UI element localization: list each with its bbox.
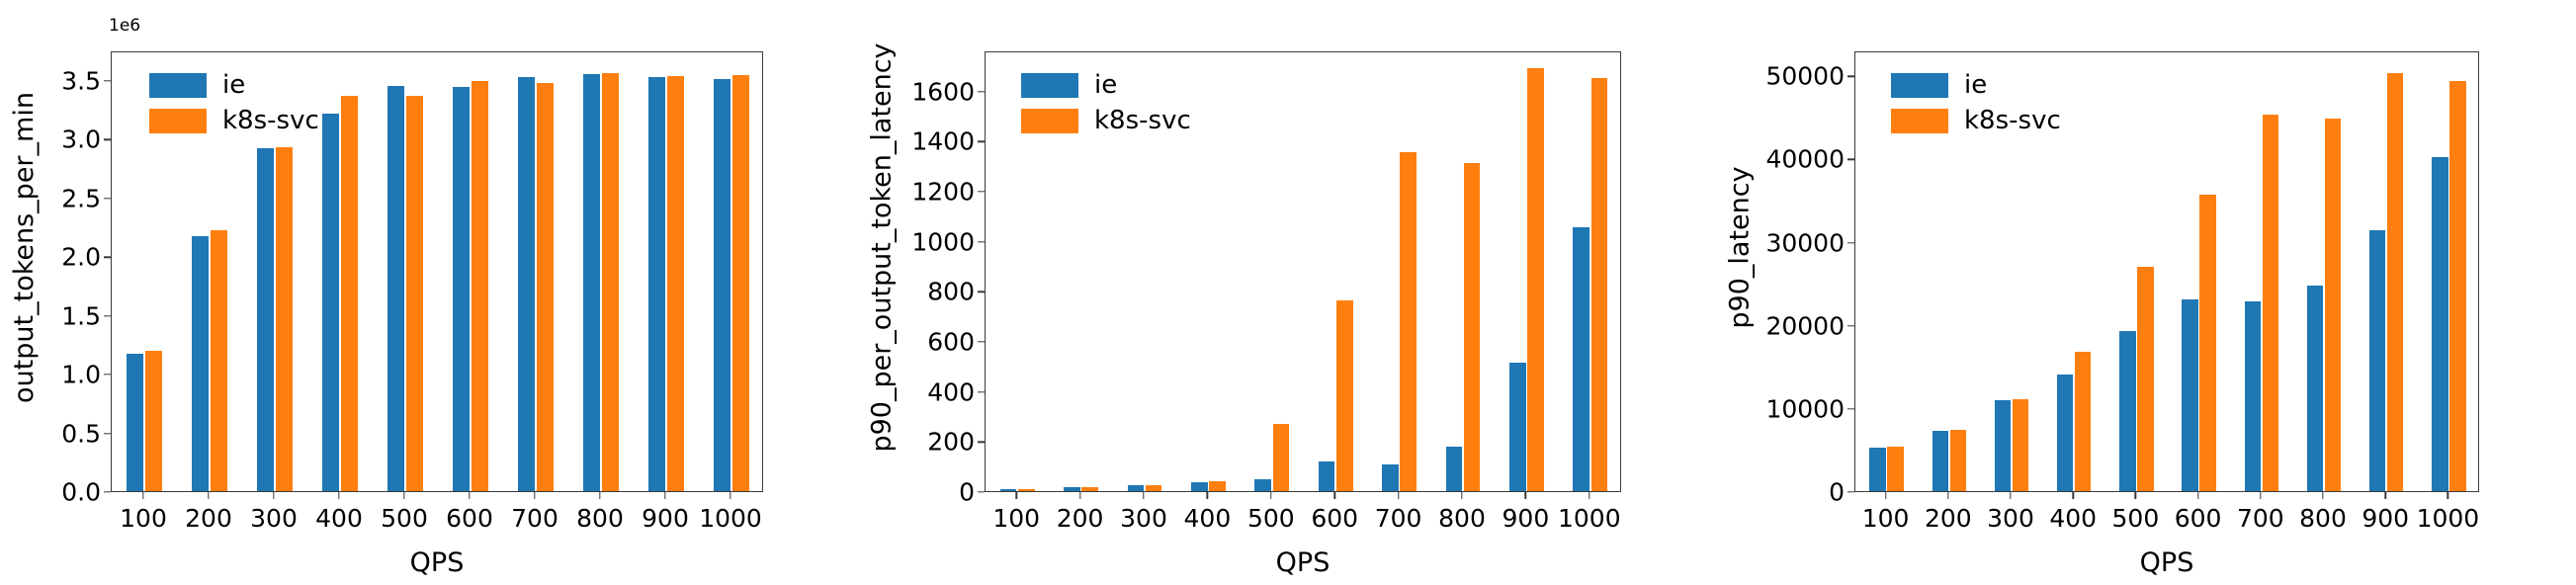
bar-ie-600: [2182, 299, 2197, 491]
bar-k8s-svc-900: [1527, 68, 1544, 491]
bar-k8s-svc-1000: [1591, 78, 1608, 491]
bar-ie-200: [1932, 431, 1948, 491]
x-tick-mark-2-200: [1079, 492, 1080, 499]
x-tick-mark-1-400: [338, 492, 339, 499]
x-tick-label-1-700: 700: [511, 504, 558, 533]
y-tick-label-3-3: 30000: [1765, 228, 1845, 257]
y-tick-mark-1-0: [104, 491, 111, 492]
y-tick-mark-3-4: [1847, 159, 1854, 160]
y-tick-label-3-2: 20000: [1765, 311, 1845, 340]
y-tick-mark-3-5: [1847, 76, 1854, 77]
x-tick-label-1-200: 200: [185, 504, 232, 533]
x-tick-label-3-100: 100: [1862, 504, 1910, 533]
legend-label: ie: [222, 72, 245, 98]
bar-k8s-svc-200: [1950, 430, 1966, 491]
bar-k8s-svc-500: [1273, 424, 1290, 491]
bar-k8s-svc-400: [1209, 481, 1226, 491]
legend-label: k8s-svc: [1964, 108, 2061, 133]
x-tick-label-3-800: 800: [2299, 504, 2347, 533]
y-tick-label-1-4: 2.0: [61, 243, 101, 272]
bar-ie-1000: [2432, 157, 2447, 491]
bar-ie-400: [322, 114, 339, 491]
bar-ie-800: [1446, 447, 1463, 491]
bar-ie-100: [1000, 489, 1017, 491]
y-tick-mark-1-6: [104, 138, 111, 139]
y-tick-label-3-4: 40000: [1765, 145, 1845, 174]
legend-swatch-icon-ie: [1021, 73, 1078, 98]
y-axis-label-1: output_tokens_per_min: [4, 0, 43, 494]
y-tick-label-2-4: 800: [927, 278, 975, 306]
figure-canvas: output_tokens_per_min1e6iek8s-svc0.00.51…: [0, 0, 2576, 585]
plot-area-2: iek8s-svc: [985, 51, 1621, 492]
bar-k8s-svc-100: [1018, 489, 1035, 491]
bar-ie-900: [2369, 230, 2385, 491]
bar-k8s-svc-900: [2387, 73, 2403, 491]
x-tick-label-2-800: 800: [1438, 504, 1486, 533]
x-tick-label-1-100: 100: [120, 504, 167, 533]
y-tick-mark-2-8: [978, 91, 985, 92]
legend-item-ie[interactable]: ie: [1021, 72, 1191, 98]
x-tick-mark-3-400: [2072, 492, 2073, 499]
x-tick-mark-3-900: [2384, 492, 2385, 499]
chart-panel-2: p90_per_output_token_latencyiek8s-svc020…: [858, 0, 1718, 585]
x-tick-label-2-500: 500: [1247, 504, 1295, 533]
y-tick-mark-2-6: [978, 191, 985, 192]
legend-swatch-icon-ie: [149, 73, 207, 98]
y-axis-offset-text-1: 1e6: [109, 16, 140, 36]
bar-k8s-svc-100: [145, 351, 162, 491]
y-tick-mark-2-7: [978, 141, 985, 142]
x-tick-label-2-900: 900: [1503, 504, 1550, 533]
bar-ie-1000: [714, 79, 730, 491]
bar-ie-800: [2307, 286, 2323, 491]
x-tick-label-1-1000: 1000: [699, 504, 762, 533]
bar-k8s-svc-800: [1464, 163, 1481, 491]
bar-k8s-svc-300: [276, 147, 293, 491]
x-tick-mark-1-700: [534, 492, 535, 499]
y-tick-label-1-5: 2.5: [61, 184, 101, 212]
bar-ie-500: [387, 86, 404, 491]
bar-k8s-svc-300: [2013, 399, 2028, 491]
bar-k8s-svc-500: [2137, 267, 2153, 491]
bar-ie-400: [2057, 375, 2073, 491]
bar-k8s-svc-300: [1146, 485, 1162, 491]
x-tick-mark-2-1000: [1589, 492, 1589, 499]
y-tick-label-1-2: 1.0: [61, 361, 101, 389]
y-tick-mark-1-7: [104, 80, 111, 81]
x-tick-label-3-300: 300: [1987, 504, 2034, 533]
x-tick-label-1-800: 800: [576, 504, 624, 533]
y-tick-mark-3-2: [1847, 325, 1854, 326]
legend-item-k8s-svc[interactable]: k8s-svc: [1891, 108, 2061, 133]
y-tick-label-2-3: 600: [927, 327, 975, 356]
x-tick-mark-1-900: [664, 492, 665, 499]
y-tick-label-2-1: 200: [927, 428, 975, 457]
bar-ie-700: [1382, 464, 1399, 491]
y-tick-mark-3-0: [1847, 491, 1854, 492]
bar-ie-200: [1064, 487, 1080, 491]
x-tick-mark-3-700: [2260, 492, 2261, 499]
plot-area-1: iek8s-svc: [111, 51, 763, 492]
x-tick-mark-2-600: [1333, 492, 1334, 499]
x-tick-mark-1-100: [142, 492, 143, 499]
y-tick-label-1-6: 3.0: [61, 125, 101, 154]
y-tick-label-2-7: 1400: [911, 127, 975, 156]
bar-k8s-svc-700: [1400, 152, 1417, 491]
legend-label: k8s-svc: [222, 108, 319, 133]
y-tick-label-1-3: 1.5: [61, 301, 101, 330]
x-tick-label-2-700: 700: [1375, 504, 1422, 533]
bar-ie-800: [583, 74, 600, 491]
y-tick-label-1-1: 0.5: [61, 419, 101, 448]
bar-ie-100: [127, 354, 143, 491]
x-tick-mark-1-800: [599, 492, 600, 499]
chart-panel-3: p90_latencyiek8s-svc01000020000300004000…: [1716, 0, 2576, 585]
y-tick-label-2-2: 400: [927, 377, 975, 406]
bar-ie-600: [1319, 461, 1335, 491]
y-tick-label-2-5: 1000: [911, 227, 975, 256]
y-tick-mark-1-1: [104, 433, 111, 434]
y-axis-label-2: p90_per_output_token_latency: [862, 0, 902, 494]
bar-ie-300: [257, 148, 274, 491]
bar-k8s-svc-700: [537, 83, 554, 491]
y-tick-mark-2-2: [978, 391, 985, 392]
legend-item-k8s-svc[interactable]: k8s-svc: [1021, 108, 1191, 133]
bar-k8s-svc-1000: [732, 75, 749, 491]
x-tick-mark-2-400: [1207, 492, 1208, 499]
y-tick-mark-2-3: [978, 341, 985, 342]
x-tick-label-2-400: 400: [1184, 504, 1232, 533]
bar-ie-400: [1191, 482, 1208, 491]
bar-k8s-svc-100: [1887, 447, 1903, 491]
x-tick-mark-3-300: [2010, 492, 2011, 499]
x-tick-label-3-200: 200: [1925, 504, 1972, 533]
legend-swatch-icon-k8s-svc: [149, 109, 207, 133]
legend-swatch-icon-k8s-svc: [1021, 109, 1078, 133]
legend-swatch-icon-ie: [1891, 73, 1948, 98]
y-tick-label-3-0: 0: [1829, 478, 1845, 507]
y-axis-label-3: p90_latency: [1720, 0, 1760, 494]
bar-ie-700: [2245, 301, 2261, 491]
x-tick-label-2-200: 200: [1057, 504, 1104, 533]
y-tick-label-3-1: 10000: [1765, 394, 1845, 423]
bar-ie-900: [1509, 363, 1526, 491]
x-tick-label-1-600: 600: [446, 504, 493, 533]
x-tick-label-3-1000: 1000: [2417, 504, 2480, 533]
bar-k8s-svc-900: [667, 76, 684, 491]
x-tick-mark-2-500: [1270, 492, 1271, 499]
y-tick-label-1-7: 3.5: [61, 66, 101, 95]
x-tick-mark-3-100: [1885, 492, 1886, 499]
bar-k8s-svc-400: [2075, 352, 2091, 491]
legend-item-k8s-svc[interactable]: k8s-svc: [149, 108, 319, 133]
bar-k8s-svc-600: [2199, 195, 2215, 491]
y-tick-mark-1-4: [104, 256, 111, 257]
bar-ie-500: [2119, 331, 2135, 491]
legend-label: ie: [1094, 72, 1117, 98]
bar-k8s-svc-200: [1081, 487, 1098, 491]
legend-item-ie[interactable]: ie: [1891, 72, 2061, 98]
bar-ie-900: [648, 77, 665, 491]
y-axis-label-text: p90_per_output_token_latency: [867, 42, 898, 452]
legend-label: k8s-svc: [1094, 108, 1191, 133]
x-tick-label-2-300: 300: [1120, 504, 1167, 533]
x-axis-label-3: QPS: [2140, 547, 2194, 578]
plot-area-3: iek8s-svc: [1854, 51, 2479, 492]
bar-ie-1000: [1573, 227, 1589, 491]
x-tick-label-1-300: 300: [250, 504, 298, 533]
x-tick-label-3-500: 500: [2112, 504, 2160, 533]
x-tick-mark-1-1000: [730, 492, 730, 499]
x-tick-mark-1-300: [273, 492, 274, 499]
bar-k8s-svc-600: [472, 81, 488, 491]
x-tick-label-2-600: 600: [1311, 504, 1358, 533]
y-axis-label-text: p90_latency: [1725, 166, 1756, 328]
x-tick-label-3-900: 900: [2361, 504, 2409, 533]
bar-k8s-svc-800: [2325, 119, 2341, 491]
x-tick-label-1-900: 900: [642, 504, 689, 533]
x-axis-label-2: QPS: [1276, 547, 1331, 578]
y-tick-label-2-0: 0: [959, 478, 975, 507]
y-tick-label-2-8: 1600: [911, 77, 975, 106]
x-tick-mark-2-300: [1143, 492, 1144, 499]
y-tick-mark-2-0: [978, 491, 985, 492]
x-tick-mark-3-600: [2197, 492, 2198, 499]
bar-k8s-svc-400: [341, 96, 358, 491]
legend-item-ie[interactable]: ie: [149, 72, 319, 98]
x-tick-mark-2-700: [1398, 492, 1399, 499]
legend-label: ie: [1964, 72, 1987, 98]
bar-ie-100: [1869, 448, 1885, 491]
x-tick-mark-3-1000: [2447, 492, 2448, 499]
x-tick-mark-3-800: [2322, 492, 2323, 499]
x-tick-mark-3-500: [2135, 492, 2136, 499]
x-tick-label-1-400: 400: [315, 504, 363, 533]
x-tick-mark-2-100: [1015, 492, 1016, 499]
bar-ie-700: [518, 77, 535, 491]
bar-ie-300: [1128, 485, 1145, 491]
y-tick-label-2-6: 1200: [911, 177, 975, 206]
legend-3: iek8s-svc: [1891, 72, 2061, 133]
y-tick-mark-1-2: [104, 374, 111, 375]
y-tick-label-1-0: 0.0: [61, 478, 101, 507]
x-axis-label-1: QPS: [410, 547, 465, 578]
bar-k8s-svc-800: [602, 73, 619, 491]
bar-k8s-svc-700: [2263, 115, 2278, 491]
bar-ie-600: [453, 87, 470, 491]
bar-k8s-svc-200: [211, 230, 227, 491]
bar-k8s-svc-1000: [2449, 81, 2465, 491]
y-tick-mark-2-4: [978, 292, 985, 292]
bar-ie-200: [192, 236, 209, 491]
bar-k8s-svc-600: [1336, 300, 1353, 491]
bar-ie-500: [1254, 479, 1271, 491]
x-tick-mark-1-200: [208, 492, 209, 499]
x-tick-label-2-100: 100: [992, 504, 1040, 533]
bar-k8s-svc-500: [406, 96, 423, 491]
x-tick-label-3-600: 600: [2175, 504, 2222, 533]
x-tick-label-3-400: 400: [2049, 504, 2097, 533]
legend-swatch-icon-k8s-svc: [1891, 109, 1948, 133]
x-tick-label-2-1000: 1000: [1558, 504, 1621, 533]
x-tick-mark-1-500: [403, 492, 404, 499]
x-tick-mark-3-200: [1947, 492, 1948, 499]
x-tick-mark-2-900: [1525, 492, 1526, 499]
y-tick-mark-3-1: [1847, 408, 1854, 409]
y-tick-mark-1-5: [104, 198, 111, 199]
y-tick-mark-1-3: [104, 315, 111, 316]
y-tick-label-3-5: 50000: [1765, 62, 1845, 91]
chart-panel-1: output_tokens_per_min1e6iek8s-svc0.00.51…: [0, 0, 860, 585]
y-axis-label-text: output_tokens_per_min: [9, 92, 40, 403]
x-tick-mark-2-800: [1461, 492, 1462, 499]
legend-1: iek8s-svc: [149, 72, 319, 133]
y-tick-mark-2-5: [978, 241, 985, 242]
y-tick-mark-2-1: [978, 442, 985, 443]
x-tick-label-3-700: 700: [2237, 504, 2284, 533]
legend-2: iek8s-svc: [1021, 72, 1191, 133]
x-tick-mark-1-600: [469, 492, 470, 499]
x-tick-label-1-500: 500: [381, 504, 428, 533]
bar-ie-300: [1995, 400, 2011, 491]
y-tick-mark-3-3: [1847, 242, 1854, 243]
